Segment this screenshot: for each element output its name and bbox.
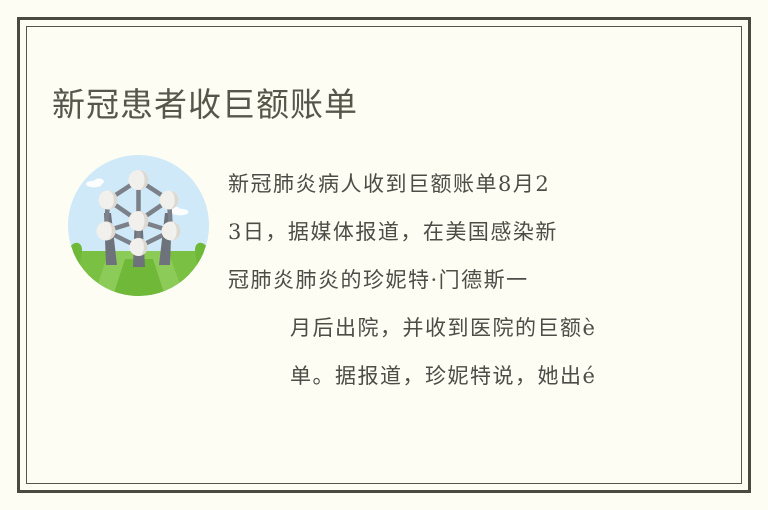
article-thumbnail xyxy=(68,155,209,296)
article-body-line: 月后出院，并收到医院的巨额è xyxy=(228,304,728,352)
article-body-line: 单。据报道，珍妮特说，她出é xyxy=(228,352,728,400)
article-body-line: 冠肺炎肺炎的珍妮特·门德斯一 xyxy=(228,256,728,304)
page-title: 新冠患者收巨额账单 xyxy=(52,84,358,126)
article-body-line: 3日，据媒体报道，在美国感染新 xyxy=(228,208,728,256)
article-card-page: 新冠患者收巨额账单 xyxy=(0,0,768,510)
atomium-landmark-illustration xyxy=(68,155,209,296)
article-body: 新冠肺炎病人收到巨额账单8月2 3日，据媒体报道，在美国感染新 冠肺炎肺炎的珍妮… xyxy=(228,160,728,400)
article-body-line: 新冠肺炎病人收到巨额账单8月2 xyxy=(228,160,728,208)
card-content: 新冠患者收巨额账单 xyxy=(26,26,742,484)
